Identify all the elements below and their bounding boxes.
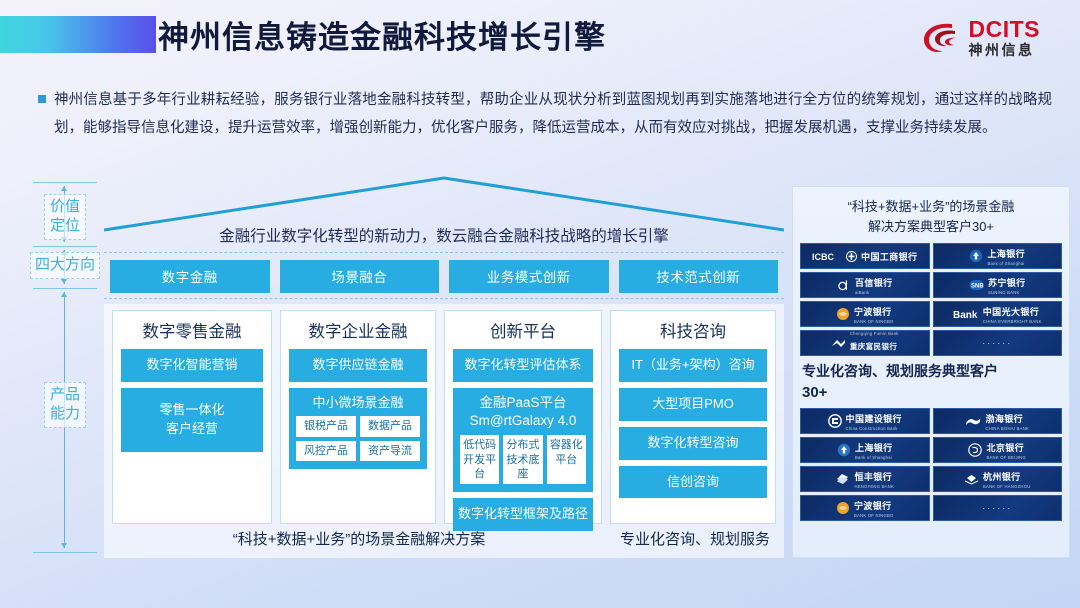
logo-label-cn: 宁波银行 bbox=[854, 501, 892, 511]
chip-lowcode-platform[interactable]: 低代码开发平台 bbox=[460, 435, 499, 484]
logo-label-en: SUNING BANK bbox=[988, 291, 1026, 295]
caption-consulting-planning-service: 专业化咨询、规划服务 bbox=[614, 528, 776, 549]
logo-cell-more-1[interactable]: ······ bbox=[933, 330, 1063, 356]
axis-divider bbox=[33, 246, 97, 247]
axis-divider bbox=[33, 288, 97, 289]
block-group-title-sme: 中小微场景金融 bbox=[296, 394, 420, 412]
suning-bank-logo-icon: SNB bbox=[969, 278, 984, 292]
intro-paragraph: 神州信息基于多年行业耕耘经验，服务银行业落地金融科技转型，帮助企业从现状分析到蓝… bbox=[38, 86, 1052, 143]
paas-title-line2: Sm@rtGalaxy 4.0 bbox=[460, 412, 586, 430]
logo-label-cn: 中国建设银行 bbox=[846, 414, 902, 424]
paas-title-line1: 金融PaaS平台 bbox=[460, 394, 586, 412]
chip-risk-control-product[interactable]: 风控产品 bbox=[296, 441, 356, 461]
column-title-3: 创新平台 bbox=[453, 318, 593, 342]
center-panel: 金融行业数字化转型的新动力，数云融合金融科技战略的增长引擎 数字金融 场景融合 … bbox=[104, 176, 784, 558]
logo-label-cn: 中国光大银行 bbox=[983, 307, 1039, 317]
hengfeng-bank-logo-icon bbox=[835, 472, 850, 485]
logo-label-en: BANK OF BEIJING bbox=[986, 456, 1026, 460]
logo-label-cn: 百信银行 bbox=[855, 278, 893, 288]
direction-pill-4[interactable]: 技术范式创新 bbox=[619, 260, 779, 293]
logo-cell-suning-bank[interactable]: SNB 苏宁银行 SUNING BANK bbox=[933, 272, 1063, 298]
chip-asset-routing[interactable]: 资产导流 bbox=[360, 441, 420, 461]
logo-grid-group-1: ICBC 中国工商银行 上海银行 Bank of Shanghai 百信银行 a… bbox=[800, 243, 1062, 356]
column-retail-finance: 数字零售金融 数字化智能营销 零售一体化 客户经营 bbox=[112, 310, 272, 524]
svg-text:Bank: Bank bbox=[953, 310, 978, 320]
block-xinchuang-consulting[interactable]: 信创咨询 bbox=[619, 466, 767, 499]
logo-cell-bank-of-ningbo[interactable]: 宁波银行 BANK OF NINGBO bbox=[800, 301, 930, 327]
logo-label-en: CHINA EVERBRIGHT BANK bbox=[983, 320, 1042, 324]
ellipsis-icon: ······ bbox=[982, 503, 1012, 513]
axis-label-value-line2: 定位 bbox=[47, 217, 83, 236]
bank-of-ningbo-logo-icon bbox=[836, 501, 850, 515]
customers-heading-2: 专业化咨询、规划服务典型客户 30+ bbox=[800, 356, 1062, 408]
block-retail-integrated-customer-ops[interactable]: 零售一体化 客户经营 bbox=[121, 388, 263, 452]
customers-heading-2-line1: 专业化咨询、规划服务典型客户 bbox=[802, 362, 1060, 382]
block-it-consulting[interactable]: IT（业务+架构）咨询 bbox=[619, 349, 767, 382]
intro-text: 神州信息基于多年行业耕耘经验，服务银行业落地金融科技转型，帮助企业从现状分析到蓝… bbox=[54, 86, 1052, 143]
customers-heading-1-line2: 解决方案典型客户30+ bbox=[800, 217, 1062, 237]
ellipsis-icon: ······ bbox=[982, 338, 1012, 348]
axis-label-capability-line2: 能力 bbox=[47, 405, 83, 424]
logo-label-en: China Construction Bank bbox=[846, 427, 902, 431]
logo-label-en: Bank of Shanghai bbox=[987, 262, 1025, 266]
block-group-title-paas: 金融PaaS平台 Sm@rtGalaxy 4.0 bbox=[460, 394, 586, 430]
chip-bank-tax-product[interactable]: 银税产品 bbox=[296, 416, 356, 436]
logo-label-cn: 北京银行 bbox=[986, 443, 1024, 453]
direction-pill-row: 数字金融 场景融合 业务模式创新 技术范式创新 bbox=[110, 260, 778, 293]
product-columns: 数字零售金融 数字化智能营销 零售一体化 客户经营 数字企业金融 数字供应链金融… bbox=[112, 310, 776, 524]
dashed-divider bbox=[104, 298, 784, 299]
logo-cell-aibank[interactable]: 百信银行 aiBank bbox=[800, 272, 930, 298]
logo-label-en: BANK OF NINGBO bbox=[854, 514, 894, 518]
logo-cell-bank-of-shanghai-2[interactable]: 上海银行 Bank of Shanghai bbox=[800, 437, 930, 463]
chip-grid-sme: 银税产品 数据产品 风控产品 资产导流 bbox=[296, 416, 420, 461]
axis-divider bbox=[33, 182, 97, 183]
logo-cell-hengfeng-bank[interactable]: 恒丰银行 HENGFENG BANK bbox=[800, 466, 930, 492]
block-line2: 客户经营 bbox=[123, 420, 261, 439]
page-title: 神州信息铸造金融科技增长引擎 bbox=[158, 12, 606, 57]
logo-label-cn: 渤海银行 bbox=[985, 414, 1023, 424]
logo-label-cn: 杭州银行 bbox=[983, 472, 1021, 482]
logo-label-en: CHINA BOHAI BANK bbox=[985, 427, 1029, 431]
logo-label-en: HENGFENG BANK bbox=[854, 485, 894, 489]
axis-label-value-line1: 价值 bbox=[47, 198, 83, 217]
icbc-emblem-icon bbox=[846, 251, 857, 262]
fumin-bank-logo-icon bbox=[831, 337, 846, 349]
logo-cell-bank-of-shanghai[interactable]: 上海银行 Bank of Shanghai bbox=[933, 243, 1063, 269]
svg-text:ICBC: ICBC bbox=[812, 252, 834, 262]
column-title-2: 数字企业金融 bbox=[289, 318, 427, 342]
column-innovation-platform: 创新平台 数字化转型评估体系 金融PaaS平台 Sm@rtGalaxy 4.0 … bbox=[444, 310, 602, 524]
logo-cell-everbright-bank[interactable]: Bank 中国光大银行 CHINA EVERBRIGHT BANK bbox=[933, 301, 1063, 327]
block-transformation-framework-path[interactable]: 数字化转型框架及路径 bbox=[453, 498, 593, 531]
block-digital-supply-chain-finance[interactable]: 数字供应链金融 bbox=[289, 349, 427, 382]
ccb-logo-icon bbox=[828, 414, 842, 428]
axis-label-value: 价值 定位 bbox=[44, 194, 86, 240]
page-header: 神州信息铸造金融科技增长引擎 DCITS 神州信息 bbox=[0, 0, 1080, 78]
icbc-logo-icon: ICBC bbox=[812, 251, 842, 262]
bank-of-beijing-logo-icon bbox=[968, 443, 982, 457]
logo-cell-bank-of-beijing[interactable]: 北京银行 BANK OF BEIJING bbox=[933, 437, 1063, 463]
logo-cell-bank-of-hangzhou[interactable]: 杭州银行 BANK OF HANGZHOU bbox=[933, 466, 1063, 492]
block-large-project-pmo[interactable]: 大型项目PMO bbox=[619, 388, 767, 421]
square-bullet-icon bbox=[38, 95, 46, 103]
column-title-4: 科技咨询 bbox=[619, 318, 767, 342]
column-enterprise-finance: 数字企业金融 数字供应链金融 中小微场景金融 银税产品 数据产品 风控产品 资产… bbox=[280, 310, 436, 524]
chip-data-product[interactable]: 数据产品 bbox=[360, 416, 420, 436]
bank-of-hangzhou-logo-icon bbox=[964, 473, 979, 485]
logo-label-cn: 苏宁银行 bbox=[988, 278, 1026, 288]
vision-statement: 金融行业数字化转型的新动力，数云融合金融科技战略的增长引擎 bbox=[104, 224, 784, 246]
chip-grid-paas: 低代码开发平台 分布式技术底座 容器化平台 bbox=[460, 435, 586, 484]
customer-logos-panel: “科技+数据+业务”的场景金融 解决方案典型客户30+ ICBC 中国工商银行 … bbox=[792, 186, 1070, 558]
logo-wordmark-en: DCITS bbox=[969, 18, 1041, 41]
logo-label-en: Chongqing Fumin Bank bbox=[850, 332, 899, 336]
axis-label-directions: 四大方向 bbox=[30, 252, 100, 279]
block-transformation-assessment-system[interactable]: 数字化转型评估体系 bbox=[453, 349, 593, 382]
block-transformation-consulting[interactable]: 数字化转型咨询 bbox=[619, 427, 767, 460]
axis-label-capability-line1: 产品 bbox=[47, 386, 83, 405]
dcits-logo: DCITS 神州信息 bbox=[922, 18, 1041, 57]
logo-wordmark-cn: 神州信息 bbox=[969, 43, 1041, 57]
customers-heading-1-line1: “科技+数据+业务”的场景金融 bbox=[800, 197, 1062, 217]
dashed-divider bbox=[104, 252, 784, 253]
bank-of-ningbo-logo-icon bbox=[836, 307, 850, 321]
logo-label-en: BANK OF NINGBO bbox=[854, 320, 894, 324]
bank-of-shanghai-logo-icon bbox=[969, 249, 983, 263]
column-tech-consulting: 科技咨询 IT（业务+架构）咨询 大型项目PMO 数字化转型咨询 信创咨询 bbox=[610, 310, 776, 524]
customers-heading-1: “科技+数据+业务”的场景金融 解决方案典型客户30+ bbox=[800, 195, 1062, 243]
logo-cell-fumin-bank[interactable]: Chongqing Fumin Bank 重庆富民银行 bbox=[800, 330, 930, 356]
bank-of-shanghai-logo-icon bbox=[837, 443, 851, 457]
aibank-logo-icon bbox=[837, 278, 851, 292]
axis-divider bbox=[33, 552, 97, 553]
column-title-1: 数字零售金融 bbox=[121, 318, 263, 342]
block-group-sme-scenario-finance[interactable]: 中小微场景金融 银税产品 数据产品 风控产品 资产导流 bbox=[289, 388, 427, 469]
left-axis: 价值 定位 四大方向 产品 能力 bbox=[30, 182, 100, 554]
direction-pill-1[interactable]: 数字金融 bbox=[110, 260, 270, 293]
logo-label-cn: 恒丰银行 bbox=[854, 472, 892, 482]
logo-label-cn: 上海银行 bbox=[987, 249, 1025, 259]
logo-cell-bank-of-ningbo-2[interactable]: 宁波银行 BANK OF NINGBO bbox=[800, 495, 930, 521]
logo-label-en: Bank of Shanghai bbox=[855, 456, 893, 460]
chip-distributed-base[interactable]: 分布式技术底座 bbox=[503, 435, 542, 484]
header-accent-bar bbox=[0, 16, 156, 53]
caption-scenario-finance-solution: “科技+数据+业务”的场景金融解决方案 bbox=[112, 528, 606, 549]
logo-cell-ccb[interactable]: 中国建设银行 China Construction Bank bbox=[800, 408, 930, 434]
logo-cell-more-2[interactable]: ······ bbox=[933, 495, 1063, 521]
logo-label-en: aiBank bbox=[855, 291, 893, 295]
everbright-bank-logo-icon: Bank bbox=[953, 308, 979, 320]
logo-label-en: BANK OF HANGZHOU bbox=[983, 485, 1031, 489]
svg-text:SNB: SNB bbox=[971, 284, 984, 290]
logo-label-cn: 上海银行 bbox=[855, 443, 893, 453]
direction-pill-2[interactable]: 场景融合 bbox=[280, 260, 440, 293]
block-group-financial-paas[interactable]: 金融PaaS平台 Sm@rtGalaxy 4.0 低代码开发平台 分布式技术底座… bbox=[453, 388, 593, 492]
block-line1: 零售一体化 bbox=[123, 401, 261, 420]
caption-row: “科技+数据+业务”的场景金融解决方案 专业化咨询、规划服务 bbox=[112, 528, 776, 549]
logo-label-cn: 宁波银行 bbox=[854, 307, 892, 317]
logo-cell-icbc[interactable]: ICBC 中国工商银行 bbox=[800, 243, 930, 269]
logo-grid-group-2: 中国建设银行 China Construction Bank 渤海银行 CHIN… bbox=[800, 408, 1062, 521]
logo-cell-bohai-bank[interactable]: 渤海银行 CHINA BOHAI BANK bbox=[933, 408, 1063, 434]
direction-pill-3[interactable]: 业务模式创新 bbox=[449, 260, 609, 293]
block-digital-smart-marketing[interactable]: 数字化智能营销 bbox=[121, 349, 263, 382]
logo-label-cn: 中国工商银行 bbox=[861, 252, 917, 262]
chip-container-platform[interactable]: 容器化平台 bbox=[547, 435, 586, 484]
dcits-swirl-icon bbox=[922, 19, 962, 57]
bohai-bank-logo-icon bbox=[965, 415, 981, 427]
logo-label-cn: 重庆富民银行 bbox=[850, 342, 897, 351]
customers-heading-2-line2: 30+ bbox=[802, 382, 1060, 403]
axis-label-capability: 产品 能力 bbox=[44, 382, 86, 428]
